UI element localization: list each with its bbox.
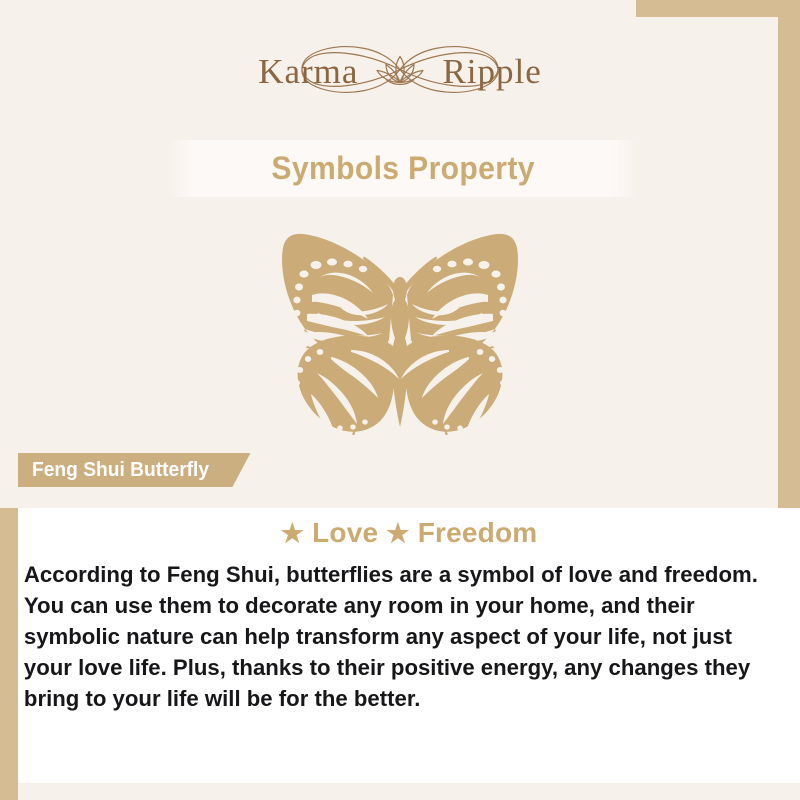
brand-name-second: Ripple <box>442 52 541 91</box>
description-panel: ★ Love ★ Freedom According to Feng Shui,… <box>18 508 800 783</box>
brand-logo: KarmaRipple <box>0 38 800 106</box>
gold-left-band <box>0 508 18 800</box>
feng-shui-butterfly-badge: Feng Shui Butterfly <box>18 453 250 487</box>
brand-name-first: Karma <box>258 52 358 91</box>
cream-top-left-fill <box>0 0 636 20</box>
description-paragraph: According to Feng Shui, butterflies are … <box>18 549 788 714</box>
cream-bottom-strip <box>18 783 800 800</box>
butterfly-illustration <box>0 228 800 440</box>
subtitle-word-love: Love <box>312 517 378 548</box>
brand-name: KarmaRipple <box>258 52 542 92</box>
badge-label: Feng Shui Butterfly <box>32 459 209 482</box>
poster-root: KarmaRipple Symbols Property <box>0 0 800 800</box>
title-banner: Symbols Property <box>168 140 638 197</box>
star-icon-mid: ★ <box>386 518 410 548</box>
subtitle-word-freedom: Freedom <box>418 517 538 548</box>
butterfly-icon <box>220 229 580 440</box>
subtitle: ★ Love ★ Freedom <box>18 508 800 549</box>
page-title: Symbols Property <box>271 150 534 187</box>
star-icon-left: ★ <box>281 518 305 548</box>
